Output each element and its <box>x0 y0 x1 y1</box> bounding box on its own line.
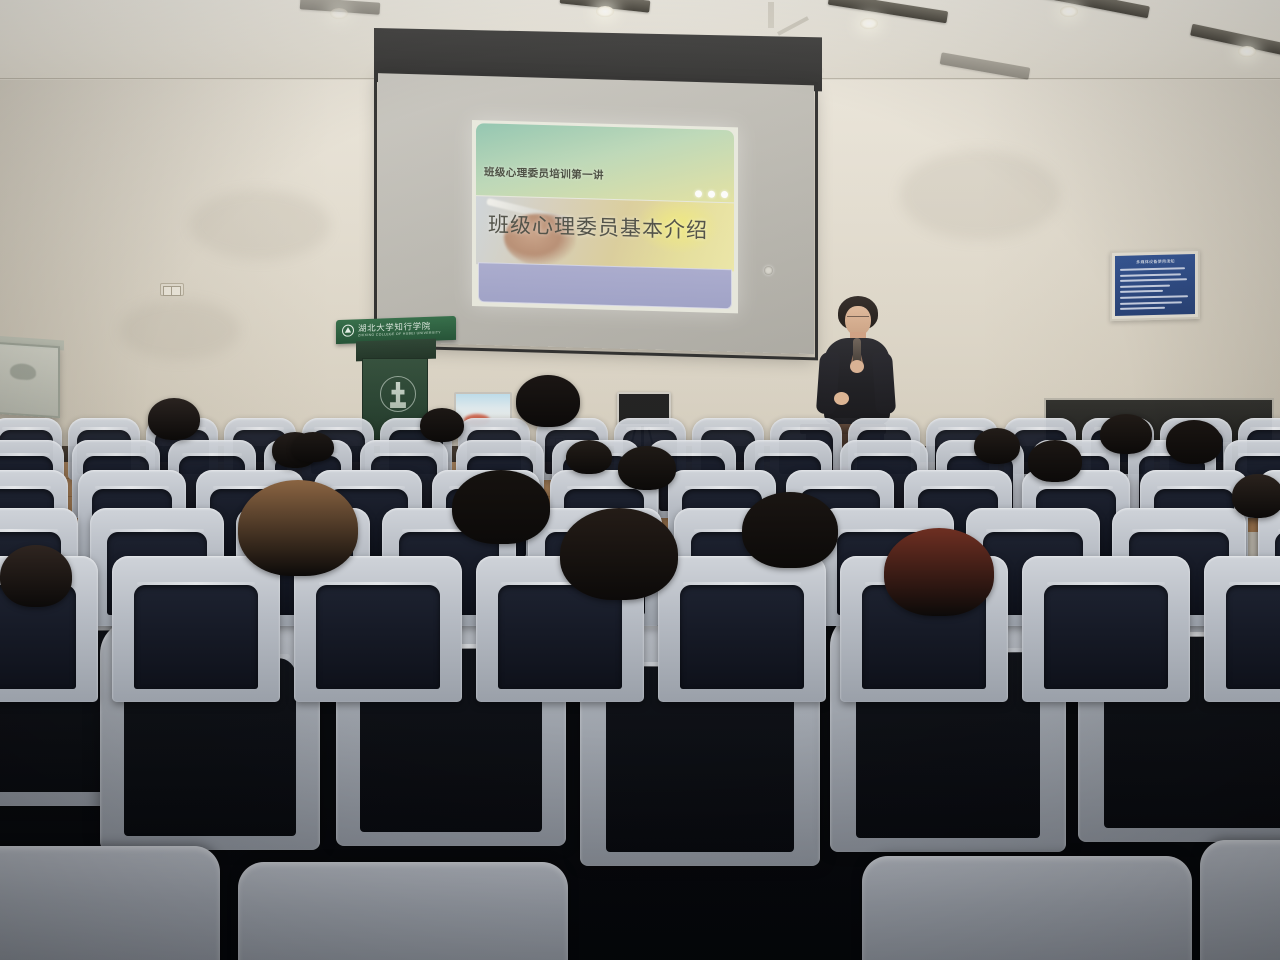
seat-cushion <box>238 862 568 960</box>
seat-cushion <box>862 856 1192 960</box>
audience-head <box>566 440 612 474</box>
audience-head <box>618 446 676 490</box>
ceiling-lamp <box>330 8 348 19</box>
lecture-hall-photo: 班级心理委员培训第一讲 班级心理委员基本介绍 多媒体设备使用须知 <box>0 0 1280 960</box>
notice-line <box>1120 307 1165 310</box>
wall-outlet <box>160 283 184 296</box>
notice-line <box>1120 295 1188 299</box>
seat <box>1022 556 1190 702</box>
audience-head <box>516 375 580 427</box>
notice-line <box>1120 301 1182 305</box>
projector-mount <box>768 2 774 28</box>
notice-line <box>1120 273 1181 276</box>
ceiling-lamp <box>1238 46 1256 57</box>
seat-cushion <box>0 846 220 960</box>
audience-head <box>1232 474 1280 518</box>
speaker-glasses-icon <box>847 316 869 320</box>
notice-title: 多媒体设备使用须知 <box>1120 258 1191 266</box>
screen-knob-icon <box>764 266 773 275</box>
notice-line <box>1120 290 1163 293</box>
audience-head <box>238 480 358 576</box>
notice-inner: 多媒体设备使用须知 <box>1115 254 1195 316</box>
seat-cushion <box>1200 840 1280 960</box>
seat <box>658 556 826 702</box>
slide-footer-band <box>478 262 732 309</box>
audience-head <box>452 470 550 544</box>
university-emblem-icon: ⛰ <box>342 324 354 336</box>
audience-head <box>148 398 200 440</box>
audience-head <box>1100 414 1152 454</box>
wall-smudge <box>900 150 1060 240</box>
audience-head <box>560 508 678 600</box>
wall-smudge <box>120 300 240 360</box>
audience-head <box>884 528 994 616</box>
seat <box>1204 556 1280 702</box>
audience-head <box>1028 440 1082 482</box>
speaker-arm-right <box>872 351 896 414</box>
case-emblem-icon <box>10 363 36 381</box>
presentation-slide: 班级心理委员培训第一讲 班级心理委员基本介绍 <box>472 120 738 313</box>
notice-line <box>1120 278 1187 282</box>
speaker-hand-on-mic <box>850 360 864 373</box>
audience-head <box>292 432 334 462</box>
ceiling-lamp <box>1060 6 1078 17</box>
display-case <box>0 342 60 419</box>
seat <box>294 556 462 702</box>
ceiling-lamp <box>860 18 878 29</box>
ceiling-lamp <box>596 6 614 17</box>
notice-line <box>1120 284 1170 287</box>
audience-head <box>0 545 72 607</box>
audience-head <box>1166 420 1222 464</box>
wall-smudge <box>190 190 330 260</box>
notice-line <box>1120 267 1185 271</box>
slide-dots-icon <box>695 190 728 198</box>
audience-head <box>420 408 464 442</box>
seat <box>112 556 280 702</box>
audience-head <box>742 492 838 568</box>
wall-notice-board: 多媒体设备使用须知 <box>1110 249 1200 321</box>
audience-head <box>974 428 1020 464</box>
speaker-hand-gesture <box>834 392 849 405</box>
